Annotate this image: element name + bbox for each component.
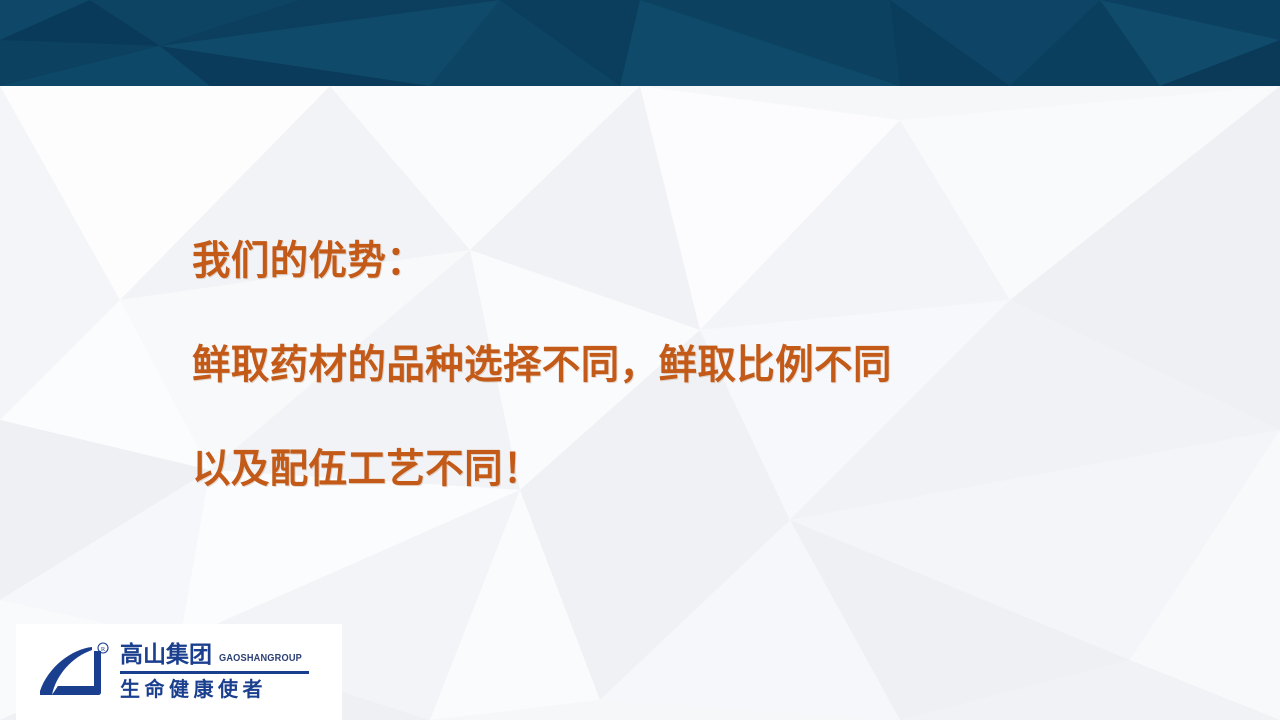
company-name-en: GAOSHANGROUP [219,652,302,668]
logo-top-row: 高山集团 GAOSHANGROUP [120,643,309,668]
company-name-cn: 高山集团 [120,643,212,668]
headline-line-3: 以及配伍工艺不同！ [192,446,1152,492]
company-logo-card: R 高山集团 GAOSHANGROUP 生命健康使者 [16,624,342,720]
logo-text-block: 高山集团 GAOSHANGROUP 生命健康使者 [120,643,309,701]
slide-canvas: 我们的优势： 鲜取药材的品种选择不同，鲜取比例不同 以及配伍工艺不同！ R 高山… [0,0,1280,720]
gaoshan-mountain-mark-icon: R [32,641,110,703]
svg-text:R: R [101,646,106,653]
headline-block: 我们的优势： 鲜取药材的品种选择不同，鲜取比例不同 以及配伍工艺不同！ [192,238,1192,492]
headline-line-2: 鲜取药材的品种选择不同，鲜取比例不同 [192,342,1152,388]
company-slogan-cn: 生命健康使者 [120,678,309,701]
headline-line-1: 我们的优势： [192,238,1152,284]
top-navy-band [0,0,1280,86]
logo-divider-rule [120,671,309,674]
